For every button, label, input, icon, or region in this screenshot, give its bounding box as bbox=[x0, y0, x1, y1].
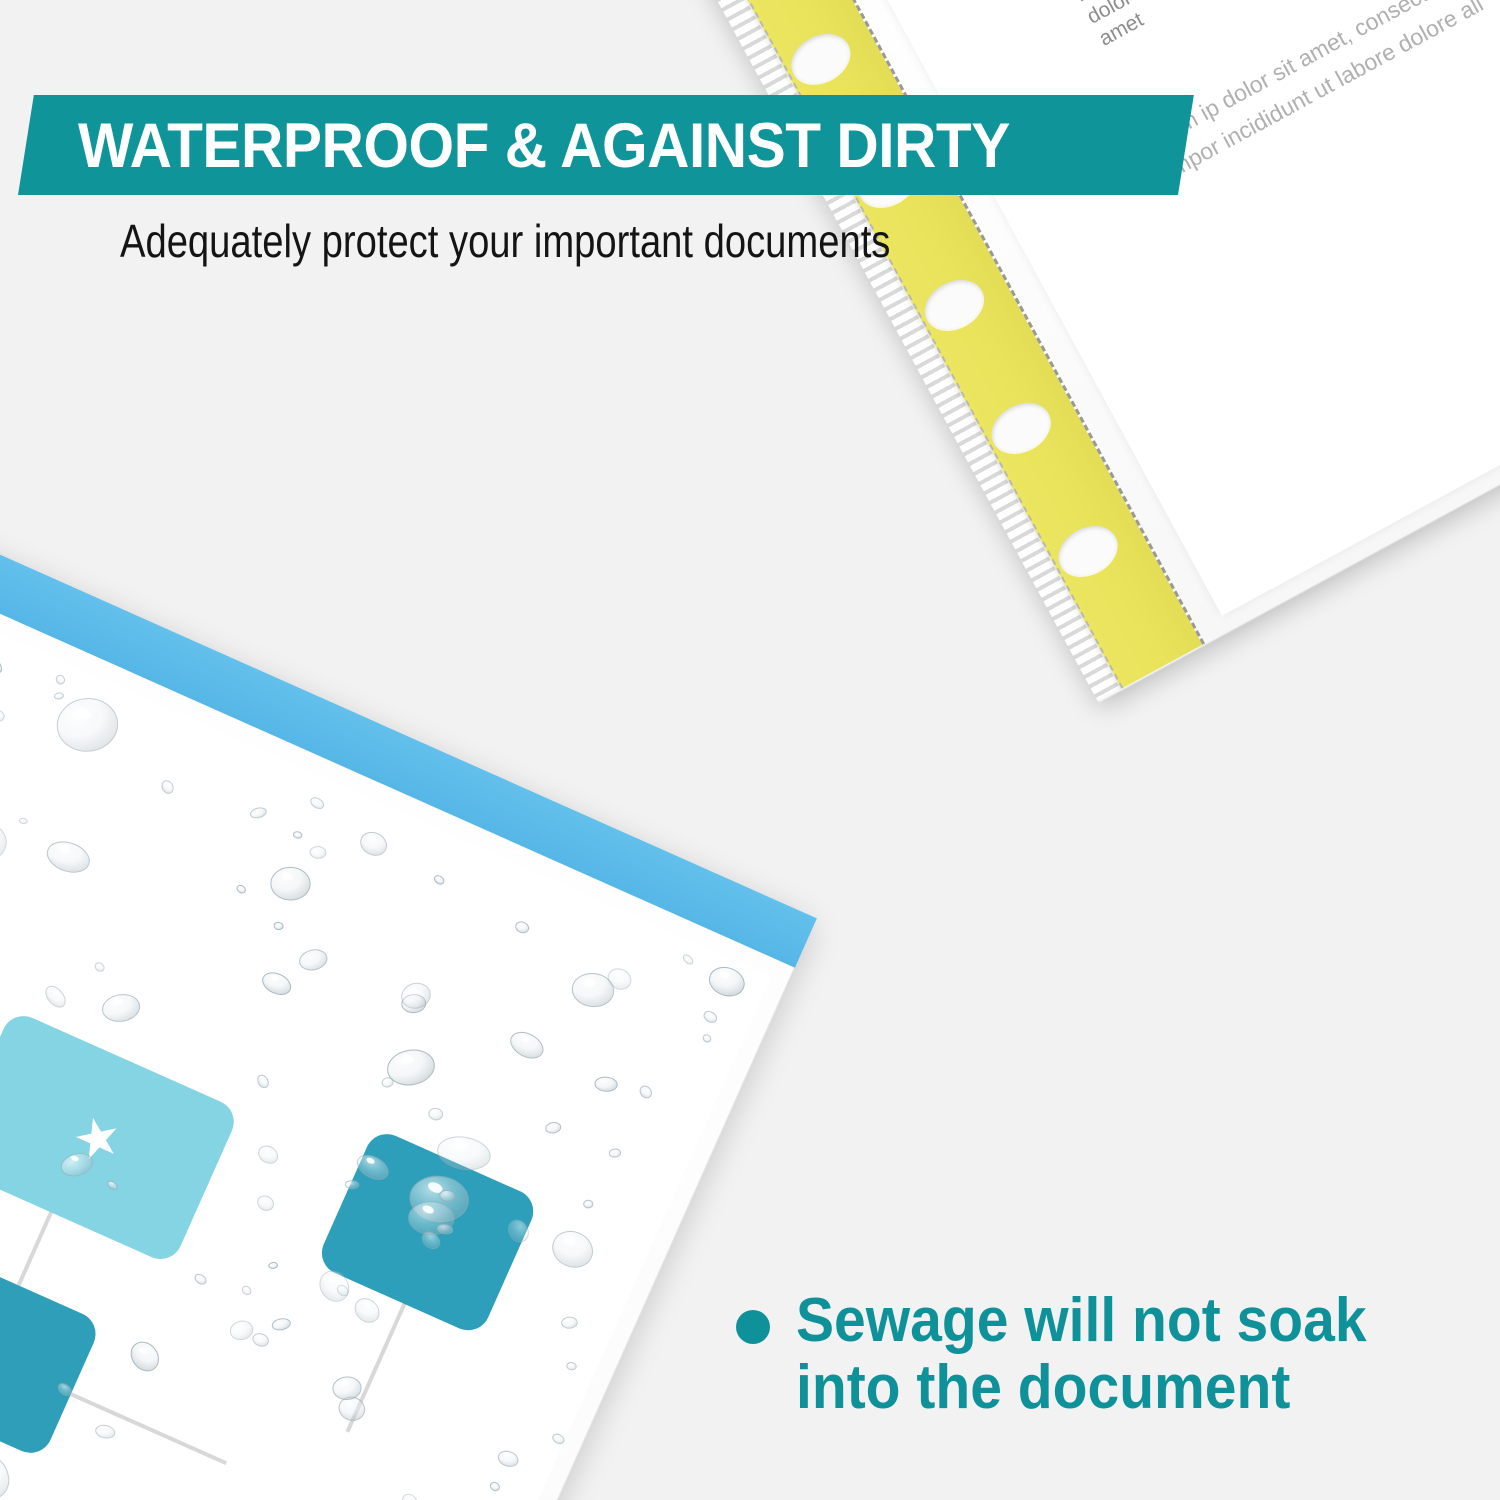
flowchart-connector bbox=[346, 1294, 411, 1433]
callout-line-2: into the document bbox=[796, 1355, 1367, 1422]
step-subtitle: Lorem ipsum dolor sit amet bbox=[1071, 0, 1273, 52]
callout-text: Sewage will not soak into the document bbox=[796, 1288, 1367, 1422]
page-title: WATERPROOF & AGAINST DIRTY bbox=[78, 96, 1120, 196]
flowchart-node bbox=[315, 1127, 540, 1337]
product-marketing-image: 0102030405 Step 1Lorem ipsum dolor sit a… bbox=[0, 0, 1500, 1500]
flowchart-connector bbox=[61, 1388, 227, 1465]
left-document-content-rotated: Lorem ipsum dolor sit dolor sit amet, co… bbox=[0, 365, 771, 1500]
bullet-dot-icon bbox=[736, 1310, 770, 1344]
flowchart-connector bbox=[17, 1202, 57, 1286]
flowchart-node bbox=[0, 1237, 103, 1459]
left-document-flowchart: ★ bbox=[0, 1469, 280, 1500]
page-subtitle: Adequately protect your important docume… bbox=[120, 214, 890, 268]
left-sheet-protector: Lorem ipsum dolor sit dolor sit amet, co… bbox=[0, 292, 817, 1500]
callout-line-1: Sewage will not soak bbox=[796, 1288, 1367, 1355]
step-block: Step 1Lorem ipsum dolor sit amet bbox=[1056, 0, 1274, 52]
feature-callout: Sewage will not soak into the document bbox=[736, 1288, 1416, 1422]
left-document-page: Lorem ipsum dolor sit dolor sit amet, co… bbox=[0, 365, 771, 1500]
